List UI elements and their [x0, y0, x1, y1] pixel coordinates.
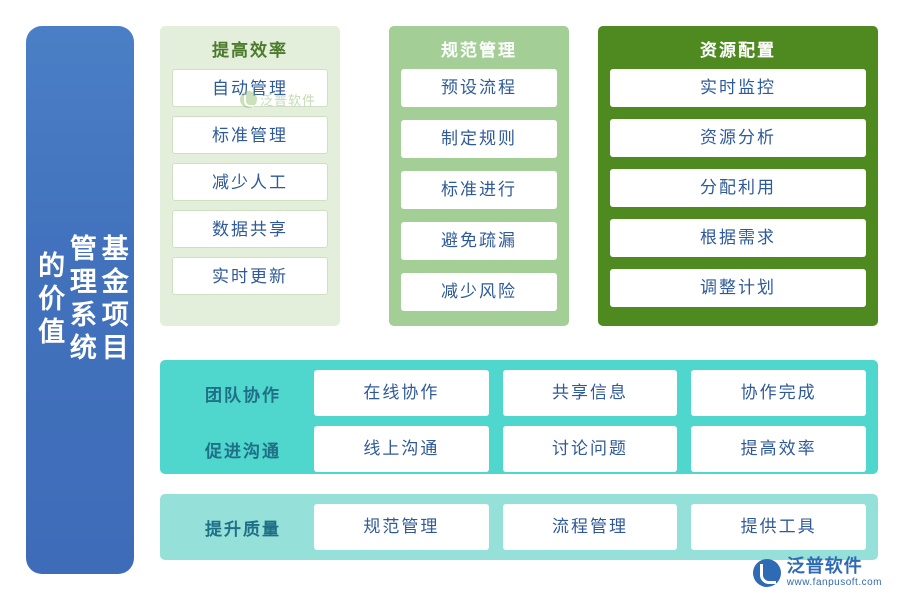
column-item[interactable]: 自动管理	[172, 69, 328, 107]
column-item[interactable]: 实时更新	[172, 257, 328, 295]
page-title: 基金项目 管理系统 的价值	[32, 234, 128, 366]
column-item[interactable]: 减少人工	[172, 163, 328, 201]
band-item[interactable]: 在线协作	[314, 370, 489, 416]
column-standardization: 规范管理 预设流程 制定规则 标准进行 避免疏漏 减少风险	[389, 26, 569, 326]
band-item[interactable]: 线上沟通	[314, 426, 489, 472]
column-item[interactable]: 减少风险	[401, 273, 557, 311]
band-row-label: 提升质量	[172, 515, 314, 540]
band-item[interactable]: 讨论问题	[503, 426, 678, 472]
column-item[interactable]: 避免疏漏	[401, 222, 557, 260]
diagram-canvas: 基金项目 管理系统 的价值 提高效率 自动管理 标准管理 减少人工 数据共享 实…	[0, 0, 900, 600]
brand-url: www.fanpusoft.com	[787, 577, 882, 588]
collaboration-band: 团队协作 在线协作 共享信息 协作完成 促进沟通 线上沟通 讨论问题 提高效率	[160, 360, 878, 474]
column-header-efficiency: 提高效率	[172, 36, 328, 61]
column-resources: 资源配置 实时监控 资源分析 分配利用 根据需求 调整计划	[598, 26, 878, 326]
band-row: 促进沟通 线上沟通 讨论问题 提高效率	[172, 426, 866, 472]
column-item[interactable]: 预设流程	[401, 69, 557, 107]
column-item[interactable]: 根据需求	[610, 219, 866, 257]
fanpu-logo-icon	[753, 559, 781, 587]
column-item[interactable]: 实时监控	[610, 69, 866, 107]
column-item[interactable]: 资源分析	[610, 119, 866, 157]
band-row: 团队协作 在线协作 共享信息 协作完成	[172, 370, 866, 416]
diagram-title-panel: 基金项目 管理系统 的价值	[26, 26, 134, 574]
column-efficiency: 提高效率 自动管理 标准管理 减少人工 数据共享 实时更新	[160, 26, 340, 326]
band-row-label: 促进沟通	[172, 437, 314, 462]
band-row-label: 团队协作	[172, 381, 314, 406]
band-item[interactable]: 提高效率	[691, 426, 866, 472]
column-item[interactable]: 调整计划	[610, 269, 866, 307]
band-item[interactable]: 流程管理	[503, 504, 678, 550]
column-item[interactable]: 分配利用	[610, 169, 866, 207]
quality-band: 提升质量 规范管理 流程管理 提供工具	[160, 494, 878, 560]
column-item[interactable]: 制定规则	[401, 120, 557, 158]
band-item[interactable]: 共享信息	[503, 370, 678, 416]
column-item[interactable]: 标准管理	[172, 116, 328, 154]
column-header-standardization: 规范管理	[401, 36, 557, 61]
band-item[interactable]: 提供工具	[691, 504, 866, 550]
bottom-right-watermark: 泛普软件 www.fanpusoft.com	[753, 557, 882, 588]
column-item[interactable]: 数据共享	[172, 210, 328, 248]
brand-name-cn: 泛普软件	[787, 557, 882, 577]
column-item[interactable]: 标准进行	[401, 171, 557, 209]
band-item[interactable]: 协作完成	[691, 370, 866, 416]
column-header-resources: 资源配置	[610, 36, 866, 61]
band-row: 提升质量 规范管理 流程管理 提供工具	[172, 504, 866, 550]
band-item[interactable]: 规范管理	[314, 504, 489, 550]
brand-text-block: 泛普软件 www.fanpusoft.com	[787, 557, 882, 588]
